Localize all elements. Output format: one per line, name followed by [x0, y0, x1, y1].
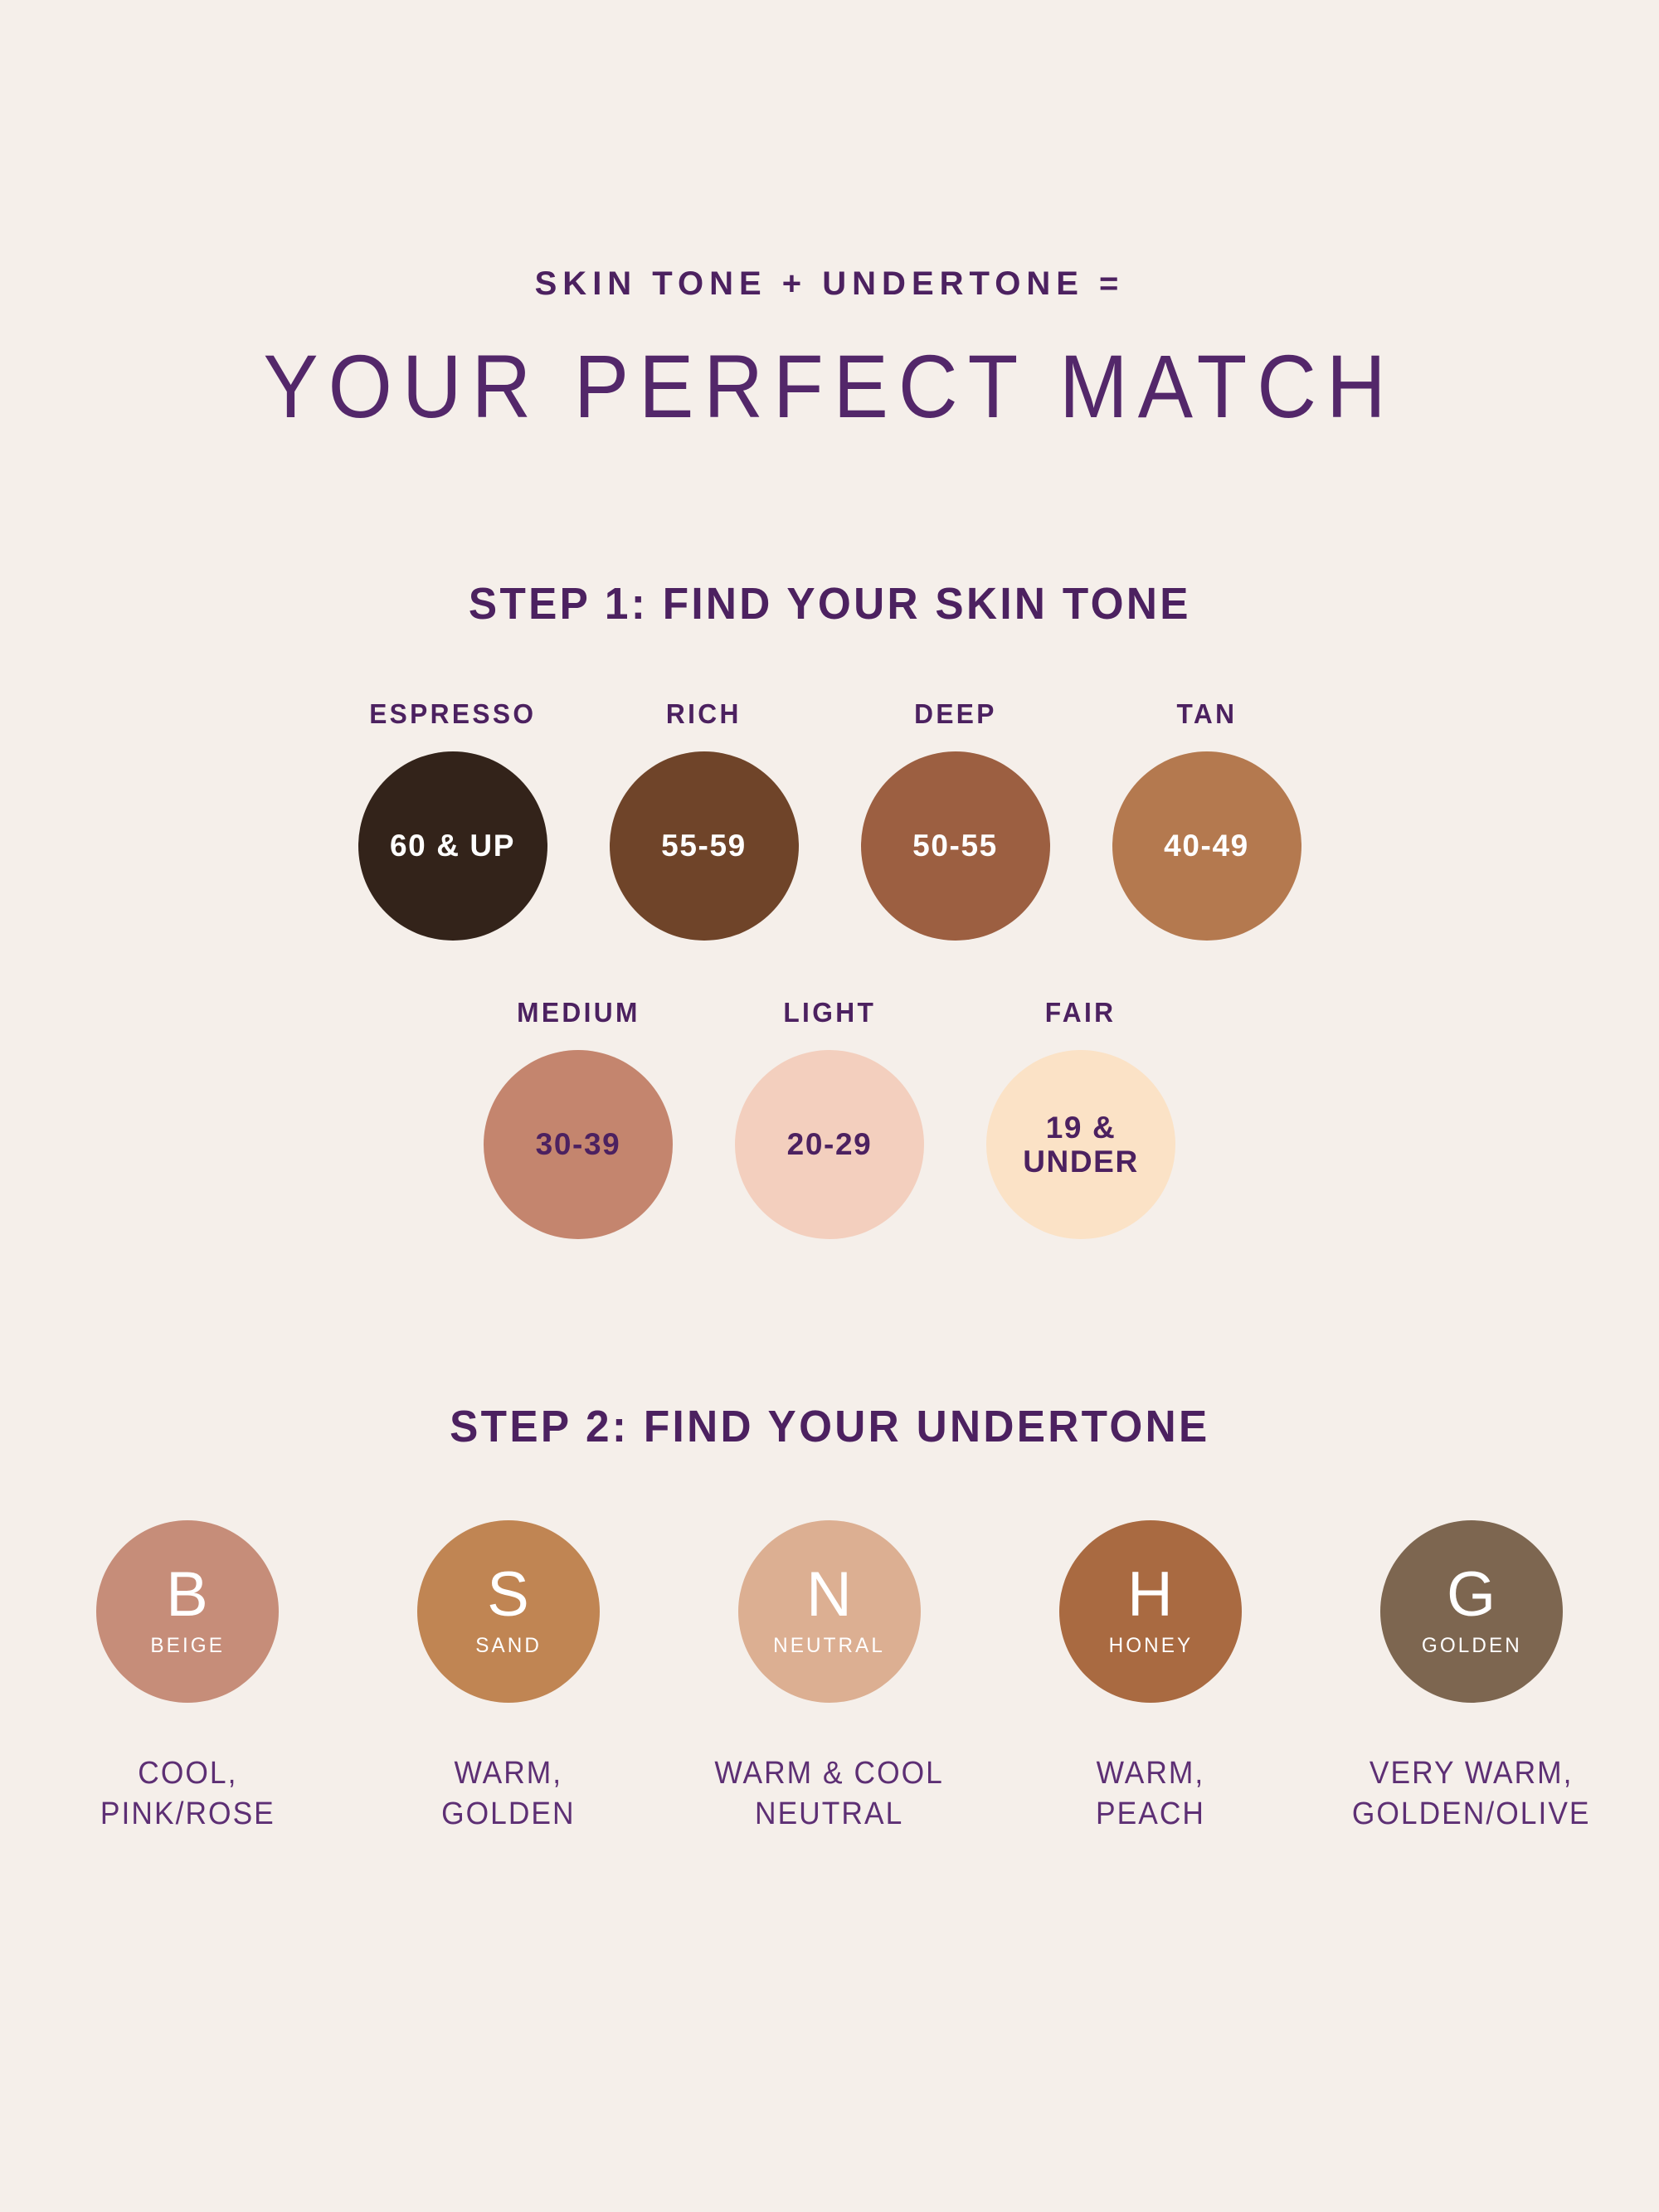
undertone-item[interactable]: BBEIGECOOL, PINK/ROSE: [45, 1520, 330, 1834]
undertone-swatch[interactable]: BBEIGE: [96, 1520, 279, 1703]
skin-tone-row-light: MEDIUM30-39LIGHT20-29FAIR19 & UNDER: [469, 999, 1190, 1239]
undertone-name: NEUTRAL: [774, 1636, 886, 1656]
skin-tone-label: FAIR: [1045, 999, 1117, 1026]
undertone-description: COOL, PINK/ROSE: [100, 1753, 275, 1834]
skin-tone-guide-page: SKIN TONE + UNDERTONE = YOUR PERFECT MAT…: [0, 0, 1659, 2212]
skin-tone-swatch[interactable]: 55-59: [610, 751, 799, 941]
skin-tone-label: DEEP: [914, 700, 997, 727]
undertone-initial: G: [1447, 1567, 1496, 1623]
undertone-row: BBEIGECOOL, PINK/ROSESSANDWARM, GOLDENNN…: [45, 1520, 1614, 1834]
undertone-swatch[interactable]: NNEUTRAL: [738, 1520, 921, 1703]
skin-tone-value: 40-49: [1157, 829, 1256, 863]
skin-tone-value: 30-39: [529, 1127, 628, 1161]
skin-tone-swatch[interactable]: 40-49: [1112, 751, 1301, 941]
undertone-description: WARM & COOL NEUTRAL: [715, 1753, 944, 1834]
undertone-item[interactable]: NNEUTRALWARM & COOL NEUTRAL: [687, 1520, 972, 1834]
skin-tone-item[interactable]: LIGHT20-29: [721, 999, 938, 1239]
step-1-heading: STEP 1: FIND YOUR SKIN TONE: [469, 581, 1191, 626]
skin-tone-value: 50-55: [906, 829, 1005, 863]
skin-tone-item[interactable]: FAIR19 & UNDER: [972, 999, 1190, 1239]
skin-tone-value: 19 & UNDER: [986, 1111, 1175, 1179]
skin-tone-item[interactable]: DEEP50-55: [847, 700, 1064, 941]
skin-tone-item[interactable]: RICH55-59: [596, 700, 813, 941]
skin-tone-swatch[interactable]: 60 & UP: [358, 751, 547, 941]
undertone-swatch[interactable]: SSAND: [417, 1520, 600, 1703]
undertone-name: HONEY: [1108, 1636, 1193, 1656]
skin-tone-swatch[interactable]: 30-39: [484, 1050, 673, 1239]
undertone-item[interactable]: SSANDWARM, GOLDEN: [366, 1520, 651, 1834]
eyebrow-text: SKIN TONE + UNDERTONE =: [535, 267, 1125, 300]
undertone-initial: B: [166, 1567, 209, 1623]
skin-tone-swatch[interactable]: 20-29: [735, 1050, 924, 1239]
undertone-name: GOLDEN: [1421, 1636, 1521, 1656]
undertone-name: SAND: [475, 1636, 542, 1656]
skin-tone-label: LIGHT: [783, 999, 876, 1026]
page-title: YOUR PERFECT MATCH: [263, 342, 1395, 431]
skin-tone-swatch[interactable]: 19 & UNDER: [986, 1050, 1175, 1239]
skin-tone-swatch[interactable]: 50-55: [861, 751, 1050, 941]
undertone-swatch[interactable]: HHONEY: [1059, 1520, 1242, 1703]
undertone-initial: S: [487, 1567, 530, 1623]
undertone-description: WARM, PEACH: [1096, 1753, 1205, 1834]
undertone-item[interactable]: GGOLDENVERY WARM, GOLDEN/OLIVE: [1329, 1520, 1614, 1834]
undertone-item[interactable]: HHONEYWARM, PEACH: [1008, 1520, 1293, 1834]
skin-tone-item[interactable]: TAN40-49: [1098, 700, 1316, 941]
skin-tone-label: TAN: [1176, 700, 1237, 727]
skin-tone-item[interactable]: MEDIUM30-39: [469, 999, 687, 1239]
skin-tone-label: RICH: [666, 700, 742, 727]
undertone-swatch[interactable]: GGOLDEN: [1380, 1520, 1563, 1703]
skin-tone-value: 55-59: [654, 829, 753, 863]
skin-tone-value: 20-29: [781, 1127, 879, 1161]
undertone-description: VERY WARM, GOLDEN/OLIVE: [1352, 1753, 1591, 1834]
undertone-description: WARM, GOLDEN: [441, 1753, 576, 1834]
undertone-initial: H: [1127, 1567, 1174, 1623]
undertone-name: BEIGE: [150, 1636, 225, 1656]
skin-tone-label: MEDIUM: [517, 999, 640, 1026]
skin-tone-row-dark: ESPRESSO60 & UPRICH55-59DEEP50-55TAN40-4…: [344, 700, 1316, 941]
skin-tone-label: ESPRESSO: [369, 700, 536, 727]
step-2-heading: STEP 2: FIND YOUR UNDERTONE: [450, 1404, 1209, 1449]
undertone-initial: N: [806, 1567, 853, 1623]
skin-tone-value: 60 & UP: [383, 829, 522, 863]
skin-tone-item[interactable]: ESPRESSO60 & UP: [344, 700, 562, 941]
